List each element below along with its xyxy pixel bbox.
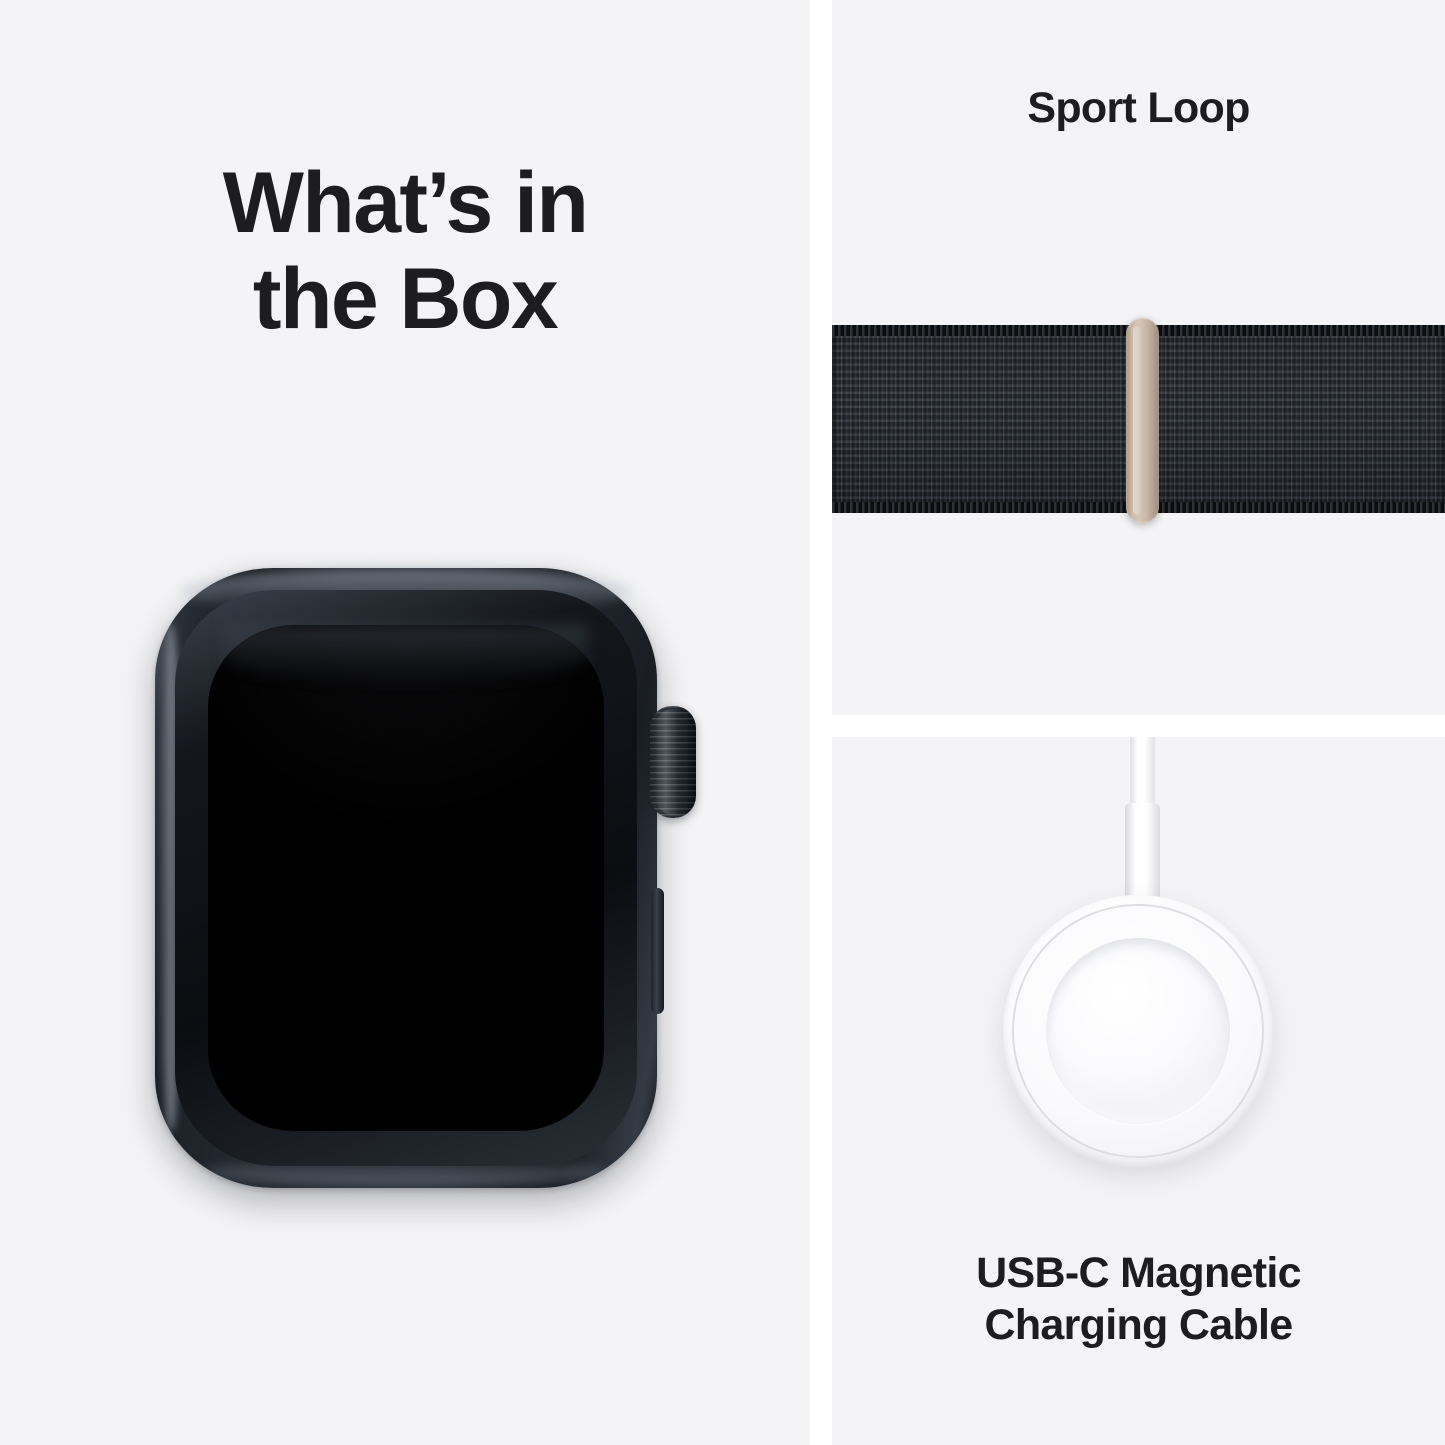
page-title: What’s in the Box xyxy=(0,155,810,348)
display-sheen xyxy=(224,625,588,685)
panel-sport-loop: Sport Loop xyxy=(832,0,1445,715)
watch-bezel xyxy=(175,590,637,1166)
digital-crown[interactable] xyxy=(650,706,696,818)
apple-watch-case xyxy=(155,568,657,1188)
panel-charging-cable: USB-C Magnetic Charging Cable xyxy=(832,737,1445,1445)
magnetic-charging-puck xyxy=(1003,895,1273,1167)
side-button[interactable] xyxy=(651,888,664,1014)
charging-cord xyxy=(1130,737,1155,807)
whats-in-the-box-figure: What’s in the Box Sport Loop xyxy=(0,0,1445,1445)
watch-case-body xyxy=(155,568,657,1188)
sport-loop-keeper xyxy=(1126,318,1159,523)
charging-cable-collar xyxy=(1125,803,1160,901)
charging-cable-caption: USB-C Magnetic Charging Cable xyxy=(832,1247,1445,1352)
sport-loop-caption: Sport Loop xyxy=(832,82,1445,134)
panel-watch: What’s in the Box xyxy=(0,0,810,1445)
watch-display xyxy=(208,625,604,1131)
charging-puck-face xyxy=(1046,938,1230,1124)
